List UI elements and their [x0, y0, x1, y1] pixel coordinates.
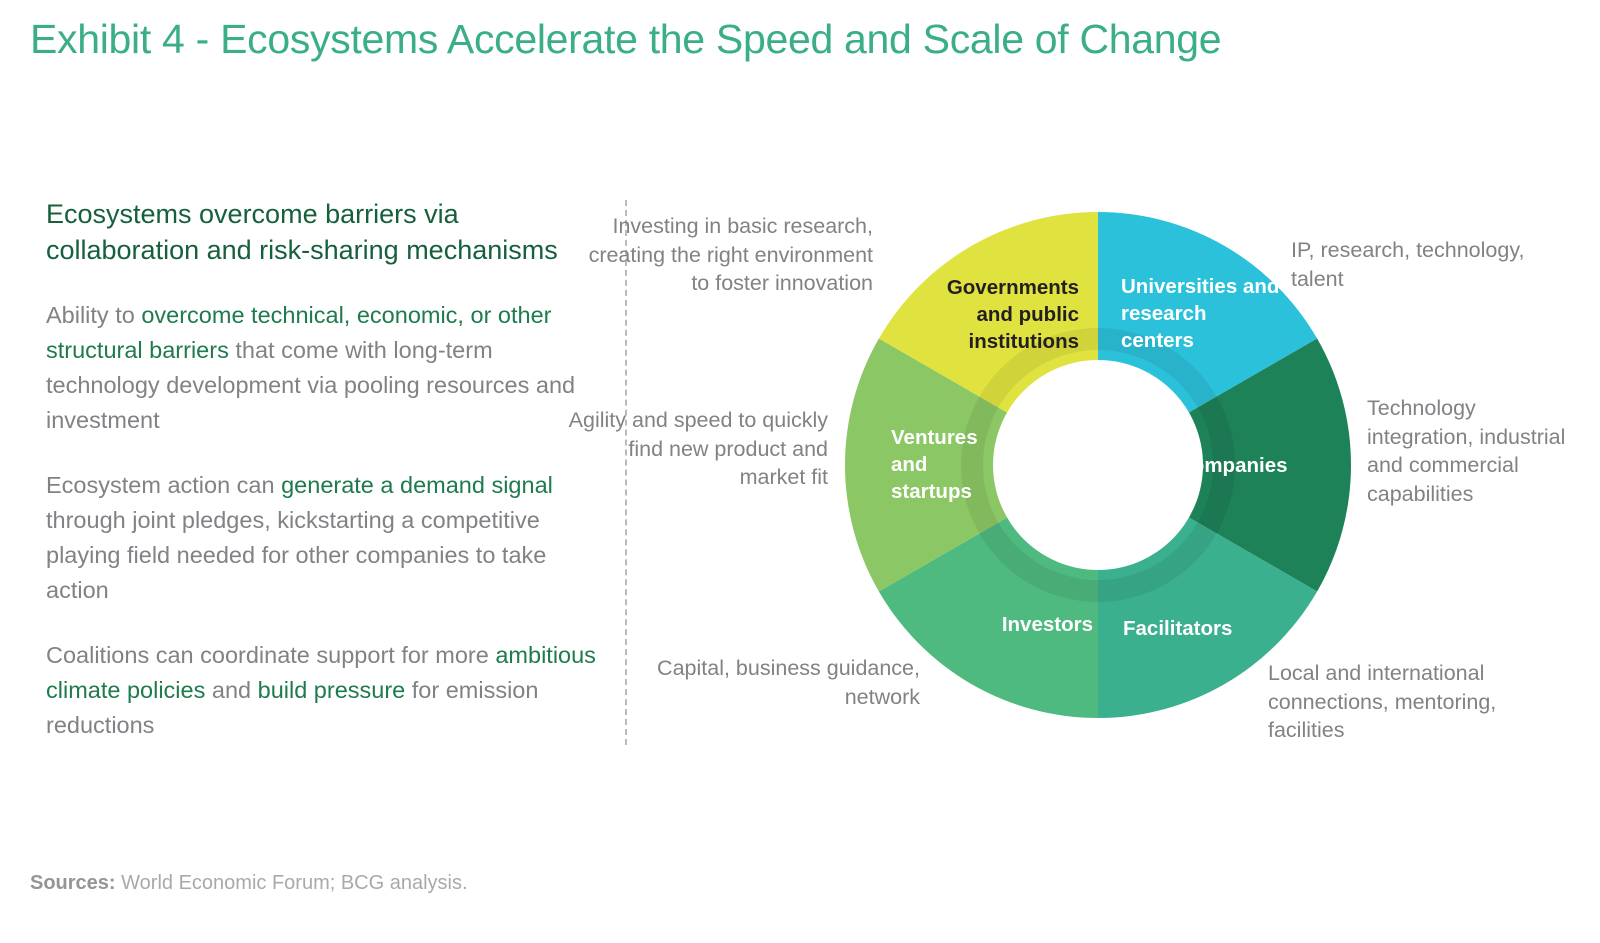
donut-label-companies[interactable]: Companies	[1177, 452, 1337, 479]
body-text: through joint pledges, kickstarting a co…	[46, 507, 546, 603]
donut-center-hole	[993, 360, 1203, 570]
donut-label-ventures[interactable]: Ventures and startups	[891, 424, 1011, 505]
left-panel-heading: Ecosystems overcome barriers via collabo…	[46, 196, 604, 268]
body-text: Ecosystem action can	[46, 472, 281, 498]
donut-label-investors[interactable]: Investors	[923, 611, 1093, 638]
ecosystem-donut-chart: Governments and public institutions Univ…	[845, 212, 1351, 718]
body-paragraph: Ecosystem action can generate a demand s…	[46, 468, 604, 608]
callout-ventures: Agility and speed to quickly find new pr…	[568, 406, 828, 492]
callout-companies: Technology integration, industrial and c…	[1367, 394, 1587, 508]
donut-label-facilitators[interactable]: Facilitators	[1123, 615, 1293, 642]
sources-label: Sources:	[30, 872, 116, 894]
callout-governments: Investing in basic research, creating th…	[573, 212, 873, 298]
sources-footer: Sources: World Economic Forum; BCG analy…	[30, 872, 468, 895]
callout-facilitators: Local and international connections, men…	[1268, 659, 1568, 745]
body-paragraph: Coalitions can coordinate support for mo…	[46, 638, 604, 743]
donut-label-universities[interactable]: Universities and research centers	[1121, 273, 1281, 354]
donut-label-governments[interactable]: Governments and public institutions	[909, 274, 1079, 355]
left-text-panel: Ecosystems overcome barriers via collabo…	[46, 196, 604, 743]
highlighted-phrase: generate a demand signal	[281, 472, 553, 498]
sources-text: World Economic Forum; BCG analysis.	[121, 872, 467, 894]
page-title: Exhibit 4 - Ecosystems Accelerate the Sp…	[30, 16, 1221, 63]
callout-investors: Capital, business guidance, network	[640, 654, 920, 711]
highlighted-phrase: build pressure	[258, 677, 406, 703]
body-text: Ability to	[46, 302, 141, 328]
body-paragraph: Ability to overcome technical, economic,…	[46, 298, 604, 438]
body-text: and	[205, 677, 257, 703]
body-text: Coalitions can coordinate support for mo…	[46, 642, 495, 668]
callout-universities: IP, research, technology, talent	[1291, 236, 1551, 293]
